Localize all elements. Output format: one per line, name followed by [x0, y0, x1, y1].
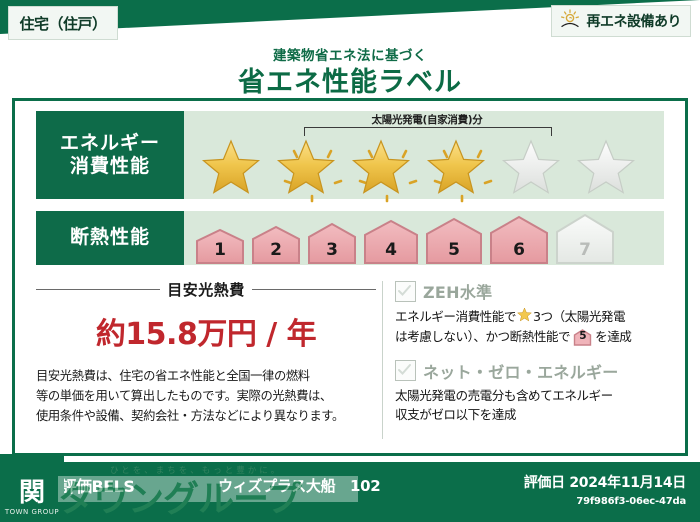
lower-section: 目安光熱費 約15.8万円 / 年 目安光熱費は、住宅の省エネ性能と全国一律の燃…	[36, 277, 667, 443]
cost-heading-label: 目安光熱費	[167, 279, 245, 300]
cost-note: 目安光熱費は、住宅の省エネ性能と全国一律の燃料 等の単価を用いて算出したものです…	[36, 367, 376, 427]
criterion-net-zero: ネット・ゼロ・エネルギー 太陽光発電の売電分も含めてエネルギー 収支がゼロ以下を…	[395, 359, 667, 425]
star-icon	[344, 130, 418, 196]
insulation-level: 6	[487, 215, 551, 264]
cost-panel: 目安光熱費 約15.8万円 / 年 目安光熱費は、住宅の省エネ性能と全国一律の燃…	[36, 277, 376, 443]
star-icon	[517, 307, 532, 328]
house-badge-icon: 5	[573, 329, 592, 346]
town-group-logo: 関 TOWN GROUP	[0, 454, 64, 522]
insulation-performance-row: 断熱性能 1 2	[36, 211, 664, 265]
logo-subtitle: TOWN GROUP	[5, 508, 59, 516]
sun-icon	[559, 9, 581, 33]
insulation-level: 5	[423, 217, 485, 264]
criterion-net-zero-line2: 収支がゼロ以下を達成	[395, 406, 667, 425]
cost-value: 約15.8万円 / 年	[36, 309, 376, 353]
insulation-level: 4	[361, 219, 421, 264]
insulation-level: 2	[249, 225, 303, 264]
category-tag: 住宅（住戸）	[8, 6, 118, 40]
page-title: 省エネ性能ラベル	[0, 60, 700, 99]
property-name: ウィズプラス大船 102	[218, 475, 380, 496]
star-icon	[194, 130, 268, 196]
insulation-level: 7	[553, 213, 617, 264]
energy-row-label: エネルギー 消費性能	[36, 111, 184, 199]
insulation-level-label: 3	[326, 240, 338, 264]
insulation-level-label: 5	[448, 240, 460, 264]
criterion-net-zero-heading: ネット・ゼロ・エネルギー	[395, 359, 667, 383]
star-icon	[269, 130, 343, 196]
certificate-id: 79f986f3-06ec-47da	[576, 496, 686, 507]
cost-note-line1: 目安光熱費は、住宅の省エネ性能と全国一律の燃料	[36, 367, 376, 387]
star-icon	[419, 130, 493, 196]
criteria-panel: ZEH水準 エネルギー消費性能で 3つ（太陽光発電	[395, 277, 667, 443]
energy-row-label-line1: エネルギー	[60, 132, 160, 155]
criterion-zeh: ZEH水準 エネルギー消費性能で 3つ（太陽光発電	[395, 279, 667, 347]
criterion-zeh-body: エネルギー消費性能で 3つ（太陽光発電 は考慮しない）、かつ断熱性能で	[395, 307, 667, 347]
criterion-net-zero-title: ネット・ゼロ・エネルギー	[423, 359, 619, 383]
criterion-zeh-line1-post: 3つ（太陽光発電	[533, 308, 625, 327]
label-root: 住宅（住戸） 再エネ設備あり 建築物省エネ法に基づく 省エネ性能ラベル	[0, 0, 700, 522]
energy-row-label-line2: 消費性能	[70, 155, 150, 178]
solar-bracket-label: 太陽光発電(自家消費)分	[302, 112, 552, 127]
renewable-badge-label: 再エネ設備あり	[587, 11, 682, 31]
vertical-divider	[382, 281, 383, 439]
insulation-row-body: 1 2 3	[184, 211, 664, 265]
footer-bar: 第三者評価BELS ウィズプラス大船 102 評価日 2024年11月14日 7…	[0, 462, 700, 522]
criterion-net-zero-line1: 太陽光発電の売電分も含めてエネルギー	[395, 387, 667, 406]
star-icon	[569, 130, 643, 196]
logo-mark: 関	[19, 483, 45, 504]
insulation-level: 3	[305, 222, 359, 264]
insulation-level-label: 4	[385, 240, 397, 264]
insulation-level: 1	[193, 228, 247, 264]
star-icon	[494, 130, 568, 196]
checkbox-icon[interactable]	[395, 281, 416, 302]
criterion-zeh-line2: は考慮しない）、かつ断熱性能で 5 を達成	[395, 328, 667, 347]
cost-note-line2: 等の単価を用いて算出したものです。実際の光熱費は、	[36, 387, 376, 407]
energy-performance-row: エネルギー 消費性能 太陽光発電(自家消費)分	[36, 111, 664, 199]
criterion-net-zero-body: 太陽光発電の売電分も含めてエネルギー 収支がゼロ以下を達成	[395, 387, 667, 425]
criterion-zeh-line2-post: を達成	[595, 328, 631, 347]
cost-note-line3: 使用条件や設備、契約会社・方法などにより異なります。	[36, 407, 376, 427]
house-badge-label: 5	[579, 329, 586, 346]
insulation-level-label: 7	[579, 240, 591, 264]
insulation-level-label: 6	[513, 240, 525, 264]
criterion-zeh-line1-pre: エネルギー消費性能で	[395, 308, 516, 327]
energy-row-body: 太陽光発電(自家消費)分	[184, 111, 664, 199]
rule-right	[252, 289, 376, 290]
rule-left	[36, 289, 160, 290]
checkbox-icon[interactable]	[395, 360, 416, 381]
renewable-badge: 再エネ設備あり	[551, 5, 692, 37]
insulation-scale: 1 2 3	[184, 213, 617, 264]
performance-card: エネルギー 消費性能 太陽光発電(自家消費)分	[12, 98, 688, 456]
criterion-zeh-title: ZEH水準	[423, 279, 492, 303]
insulation-level-label: 2	[270, 240, 282, 264]
insulation-level-label: 1	[214, 240, 226, 264]
cost-heading: 目安光熱費	[36, 279, 376, 300]
criterion-zeh-heading: ZEH水準	[395, 279, 667, 303]
criterion-zeh-line1: エネルギー消費性能で 3つ（太陽光発電	[395, 307, 667, 328]
evaluation-date: 評価日 2024年11月14日	[524, 472, 686, 492]
insulation-row-label: 断熱性能	[36, 211, 184, 265]
criterion-zeh-line2-pre: は考慮しない）、かつ断熱性能で	[395, 328, 570, 347]
